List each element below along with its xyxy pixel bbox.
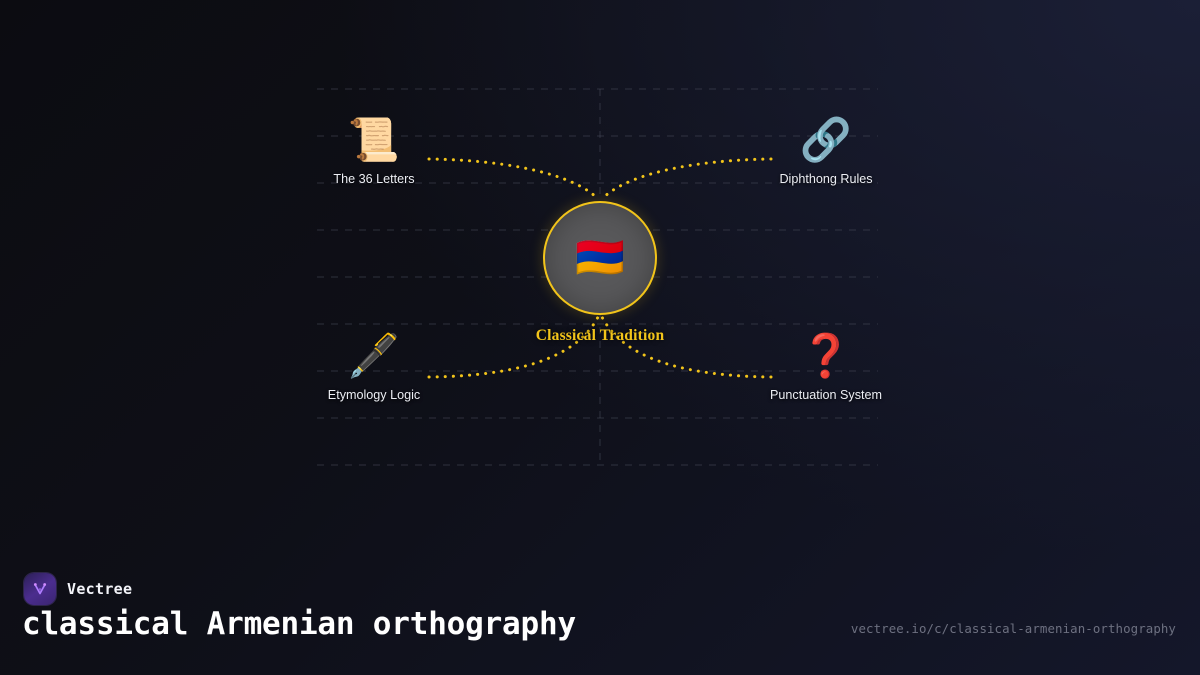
edge-to-punctuation-system — [602, 317, 771, 377]
brand-name: Vectree — [67, 580, 132, 598]
node-diphthong-rules[interactable]: 🔗 Diphthong Rules — [751, 114, 901, 186]
node-etymology-logic[interactable]: 🖋️ Etymology Logic — [299, 330, 449, 402]
page-url: vectree.io/c/classical-armenian-orthogra… — [851, 621, 1176, 636]
node-the-36-letters[interactable]: 📜 The 36 Letters — [299, 114, 449, 186]
page-title: classical Armenian orthography — [22, 606, 576, 642]
graph-canvas[interactable]: 🇦🇲 Classical Tradition 📜 The 36 Letters … — [0, 0, 1200, 560]
center-node[interactable]: 🇦🇲 Classical Tradition — [543, 201, 657, 315]
link-icon: 🔗 — [751, 114, 901, 168]
edge-to-etymology-logic — [429, 317, 598, 377]
center-node-label: Classical Tradition — [536, 327, 665, 345]
vectree-logo-icon — [24, 573, 56, 605]
scroll-icon: 📜 — [299, 114, 449, 168]
node-label: The 36 Letters — [299, 172, 449, 186]
fountain-pen-icon: 🖋️ — [299, 330, 449, 384]
node-label: Etymology Logic — [299, 388, 449, 402]
edge-to-the-36-letters — [429, 159, 598, 199]
footer: Vectree classical Armenian orthography v… — [0, 555, 1200, 675]
node-label: Diphthong Rules — [751, 172, 901, 186]
node-punctuation-system[interactable]: ❓ Punctuation System — [751, 330, 901, 402]
brand[interactable]: Vectree — [24, 573, 132, 605]
edge-to-diphthong-rules — [602, 159, 771, 199]
flag-armenia-icon: 🇦🇲 — [575, 238, 625, 278]
question-mark-icon: ❓ — [751, 330, 901, 384]
center-node-circle[interactable]: 🇦🇲 — [543, 201, 657, 315]
node-label: Punctuation System — [751, 388, 901, 402]
